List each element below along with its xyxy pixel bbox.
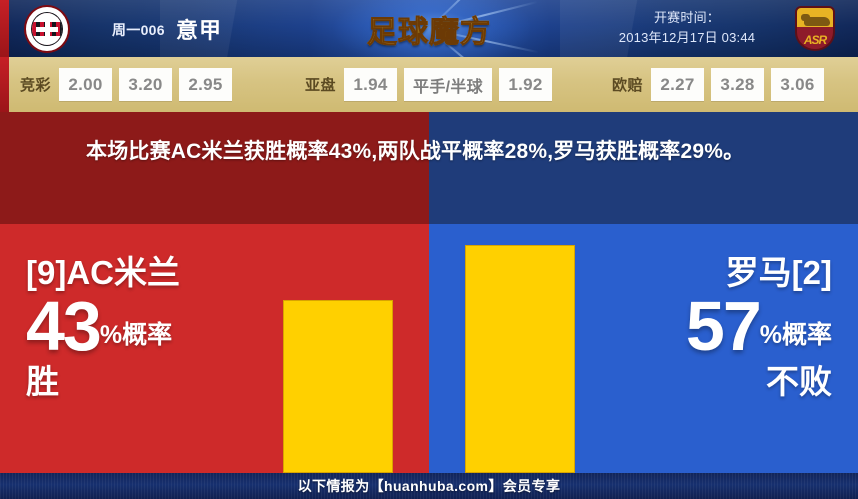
odds-group-asian-handicap: 亚盘 1.94 平手/半球 1.92 — [305, 68, 559, 101]
home-percent-row: 43 %概率 — [26, 295, 180, 357]
summary-text: 本场比赛AC米兰获胜概率43%,两队战平概率28%,罗马获胜概率29%。 — [0, 112, 858, 224]
crest-inner — [31, 12, 63, 46]
ac-milan-crest-icon — [24, 5, 70, 53]
site-logo[interactable]: 足球魔方 — [356, 3, 502, 53]
footer-bar: 以下情报为【huanhuba.com】会员专享 — [0, 473, 858, 499]
odds-bar: 竞彩 2.00 3.20 2.95 亚盘 1.94 平手/半球 1.92 欧赔 … — [0, 57, 858, 112]
away-percent-unit: %概率 — [760, 318, 832, 357]
away-team-info: 罗马[2] 57 %概率 不败 — [686, 253, 832, 403]
crest-top-band — [32, 13, 62, 22]
crest-wolf-figure — [804, 17, 830, 26]
odds-group-label: 亚盘 — [305, 74, 336, 95]
odds-cell-handicap[interactable]: 平手/半球 — [404, 68, 492, 101]
odds-cell[interactable]: 3.06 — [771, 68, 824, 101]
match-prediction-infographic: 周一006 意甲 足球魔方 开赛时间： 2013年12月17日 03:44 AS… — [0, 0, 858, 499]
crest-bottom-band — [32, 36, 62, 45]
crest-shield: ASR — [795, 6, 835, 51]
odds-cell[interactable]: 2.95 — [179, 68, 232, 101]
as-roma-crest-icon: ASR — [795, 6, 835, 51]
odds-group-european: 欧赔 2.27 3.28 3.06 — [612, 68, 831, 101]
home-percent-value: 43 — [26, 295, 100, 357]
away-team-panel: 罗马[2] 57 %概率 不败 — [429, 224, 858, 473]
match-round-label: 周一006 — [112, 20, 165, 40]
kickoff-value: 2013年12月17日 03:44 — [598, 28, 776, 48]
away-percent-value: 57 — [686, 295, 760, 357]
logo-text: 足球魔方 — [356, 7, 502, 51]
crest-monogram: ASR — [797, 33, 833, 47]
odds-group-label: 欧赔 — [612, 74, 643, 95]
odds-cell[interactable]: 3.28 — [711, 68, 764, 101]
home-probability-bar — [283, 300, 393, 473]
odds-cell[interactable]: 3.20 — [119, 68, 172, 101]
header-left-red-stripe — [0, 0, 9, 57]
away-verdict: 不败 — [686, 361, 832, 403]
odds-group-label: 竞彩 — [20, 74, 51, 95]
home-team-info: [9]AC米兰 43 %概率 胜 — [26, 253, 180, 403]
crest-cross-horizontal — [36, 27, 58, 32]
home-team-panel: [9]AC米兰 43 %概率 胜 — [0, 224, 429, 473]
footer-text: 以下情报为【huanhuba.com】会员专享 — [298, 476, 561, 496]
kickoff-time: 开赛时间： 2013年12月17日 03:44 — [598, 8, 776, 48]
crest-oval — [24, 5, 70, 53]
away-probability-bar — [465, 245, 575, 473]
home-verdict: 胜 — [26, 361, 180, 403]
odds-cell[interactable]: 1.92 — [499, 68, 552, 101]
league-name: 意甲 — [176, 13, 222, 45]
odds-cell[interactable]: 2.00 — [59, 68, 112, 101]
odds-cell[interactable]: 2.27 — [651, 68, 704, 101]
odds-cell[interactable]: 1.94 — [344, 68, 397, 101]
header-bar: 周一006 意甲 足球魔方 开赛时间： 2013年12月17日 03:44 AS… — [0, 0, 858, 57]
probability-panels: [9]AC米兰 43 %概率 胜 罗马[2] 57 %概率 不败 — [0, 224, 858, 473]
home-percent-unit: %概率 — [100, 318, 172, 357]
away-percent-row: 57 %概率 — [686, 295, 832, 357]
odds-left-red-stripe — [0, 57, 9, 112]
kickoff-label: 开赛时间： — [598, 8, 776, 28]
odds-group-jingcai: 竞彩 2.00 3.20 2.95 — [20, 68, 239, 101]
